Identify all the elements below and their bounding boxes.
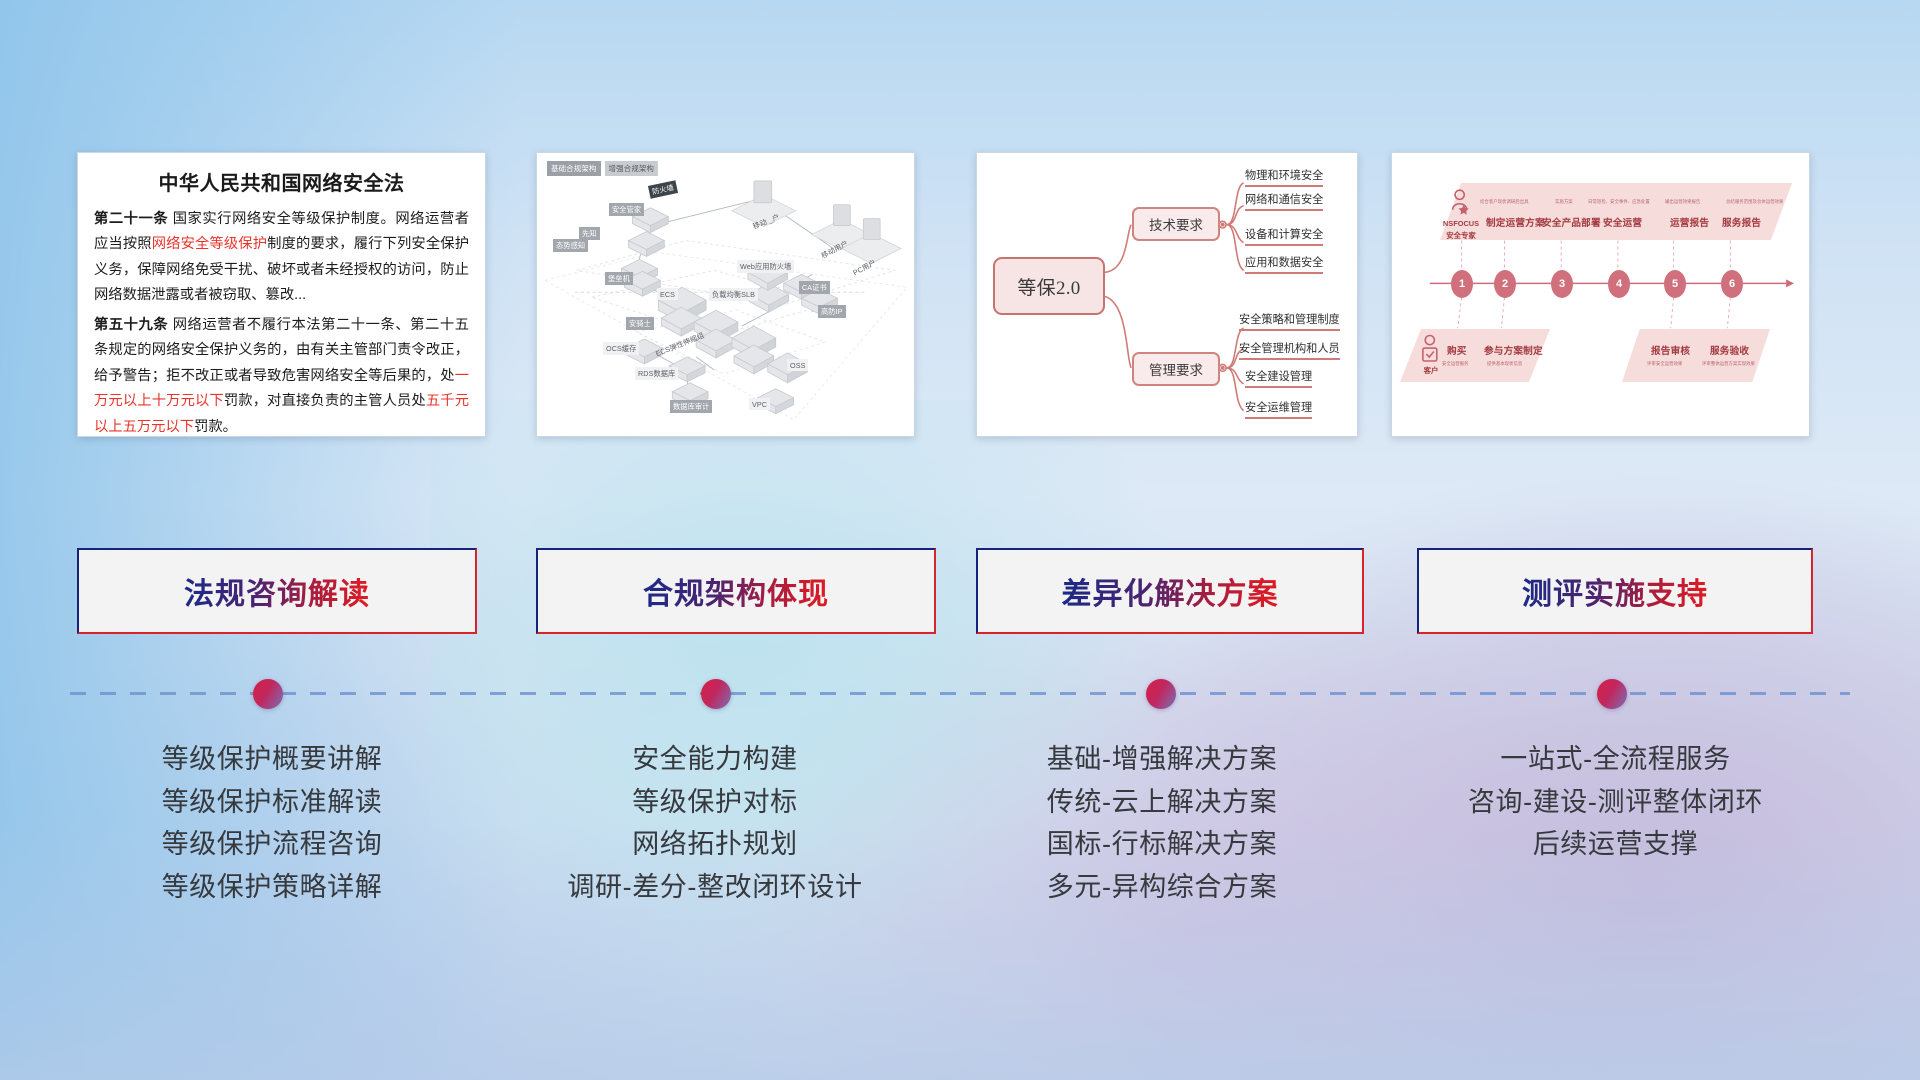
node-label-waf: Web应用防火墙 (737, 260, 794, 273)
process-role-provider-line2: 安全专家 (1432, 230, 1490, 241)
bullet-item: 等级保护对标 (505, 781, 925, 824)
process-step-2[interactable]: 2 (1494, 270, 1516, 298)
bullet-item: 等级保护流程咨询 (62, 823, 482, 866)
bullet-item: 后续运营支撑 (1398, 823, 1833, 866)
node-label-ca-certificate: CA证书 (799, 281, 830, 294)
node-label-security-butler: 安全管家 (609, 203, 644, 216)
mindmap-canvas: 等保2.0 技术要求 管理要求 物理和环境安全 网络和通信安全 设备和计算安全 … (977, 153, 1357, 436)
law-article-59-text-2: 罚款，对直接负责的主管人员处 (224, 393, 426, 409)
process-top-title-2: 安全产品部署 (1542, 215, 1601, 229)
card-law-text[interactable]: 中华人民共和国网络安全法 第二十一条 国家实行网络安全等级保护制度。网络运营者应… (77, 152, 486, 437)
node-label-anti-ddos-ip: 高防IP (818, 305, 846, 318)
card-service-process[interactable]: NSFOCUS 安全专家 客户 结合客户现状调研后出具 制定运营方案 实施方案 … (1391, 152, 1810, 437)
process-top-sub-5: 总结服务范围及总体运营效果 (1726, 199, 1783, 205)
bullet-item: 传统-云上解决方案 (952, 781, 1372, 824)
process-top-sub-4: 输出运营效果报告 (1665, 199, 1700, 205)
process-bottom-title-3: 报告审核 (1651, 343, 1690, 357)
node-label-rds-database: RDS数据库 (635, 367, 678, 380)
bullet-item: 一站式-全流程服务 (1398, 738, 1833, 781)
node-label-database-audit: 数据库审计 (670, 400, 712, 413)
process-bottom-sub-2: 提供基本现状信息 (1487, 361, 1522, 367)
mindmap-leaf-org-personnel: 安全管理机构和人员 (1239, 340, 1340, 360)
timeline-dot-3[interactable] (1146, 679, 1176, 709)
bullet-column-1: 等级保护概要讲解 等级保护标准解读 等级保护流程咨询 等级保护策略详解 (62, 738, 482, 909)
bullet-item: 等级保护标准解读 (62, 781, 482, 824)
mindmap-leaf-device-compute: 设备和计算安全 (1245, 226, 1323, 246)
node-label-slb: 负载均衡SLB (709, 288, 758, 301)
node-label-ocs-cache: OCS缓存 (603, 342, 639, 355)
bullet-column-2: 安全能力构建 等级保护对标 网络拓扑规划 调研-差分-整改闭环设计 (505, 738, 925, 909)
process-step-3[interactable]: 3 (1551, 270, 1573, 298)
node-label-situation-awareness: 态势感知 (553, 239, 588, 252)
mindmap-leaf-network-comm: 网络和通信安全 (1245, 191, 1323, 211)
law-article-21-label: 第二十一条 (94, 211, 168, 227)
law-article-21: 第二十一条 国家实行网络安全等级保护制度。网络运营者应当按照网络安全等级保护制度… (94, 207, 469, 309)
process-bottom-title-4: 服务验收 (1710, 343, 1749, 357)
bullet-item: 国标-行标解决方案 (952, 823, 1372, 866)
timeline-dot-2[interactable] (701, 679, 731, 709)
timeline-dashed-line (70, 692, 1850, 695)
mindmap-leaf-policy-system: 安全策略和管理制度 (1239, 311, 1340, 331)
process-bottom-sub-3: 评审安全运营效果 (1647, 361, 1682, 367)
bullet-column-4: 一站式-全流程服务 咨询-建设-测评整体闭环 后续运营支撑 (1398, 738, 1833, 866)
law-title: 中华人民共和国网络安全法 (78, 167, 485, 196)
timeline-dot-1[interactable] (253, 679, 283, 709)
headline-box-regulation-consulting[interactable]: 法规咨询解读 (77, 548, 477, 634)
law-article-59: 第五十九条 网络运营者不履行本法第二十一条、第二十五条规定的网络安全保护义务的，… (94, 313, 469, 437)
mindmap-branch-management[interactable]: 管理要求 (1132, 352, 1220, 386)
process-canvas: NSFOCUS 安全专家 客户 结合客户现状调研后出具 制定运营方案 实施方案 … (1392, 153, 1809, 436)
process-top-title-3: 安全运营 (1603, 215, 1642, 229)
process-bottom-sub-4: 评审整体运营方案实现效果 (1702, 361, 1755, 367)
bullet-item: 基础-增强解决方案 (952, 738, 1372, 781)
mindmap-root-node[interactable]: 等保2.0 (993, 257, 1105, 315)
process-step-1[interactable]: 1 (1451, 270, 1473, 298)
process-top-sub-2: 实施方案 (1555, 199, 1573, 205)
card-architecture-diagram[interactable]: 基础合规架构 增强合规架构 (536, 152, 915, 437)
mindmap-leaf-physical-env: 物理和环境安全 (1245, 167, 1323, 187)
process-step-6[interactable]: 6 (1721, 270, 1743, 298)
headline-box-differentiated-solution[interactable]: 差异化解决方案 (976, 548, 1364, 634)
node-label-oss: OSS (787, 359, 808, 371)
headline-label-2: 合规架构体现 (643, 569, 829, 613)
headline-label-4: 测评实施支持 (1522, 569, 1708, 613)
bullet-item: 安全能力构建 (505, 738, 925, 781)
mindmap-leaf-operations: 安全运维管理 (1245, 399, 1312, 419)
law-article-59-text-3: 罚款。 (194, 419, 237, 435)
bullet-item: 咨询-建设-测评整体闭环 (1398, 781, 1833, 824)
bullet-item: 调研-差分-整改闭环设计 (505, 866, 925, 909)
process-step-4[interactable]: 4 (1608, 270, 1630, 298)
process-top-sub-1: 结合客户现状调研后出具 (1480, 199, 1529, 205)
law-body: 第二十一条 国家实行网络安全等级保护制度。网络运营者应当按照网络安全等级保护制度… (78, 196, 485, 437)
process-bottom-title-1: 购买 (1447, 343, 1467, 357)
bullet-item: 网络拓扑规划 (505, 823, 925, 866)
node-label-jumpserver: 堡垒机 (605, 272, 633, 285)
mindmap-leaf-construction: 安全建设管理 (1245, 368, 1312, 388)
mindmap-leaf-app-data: 应用和数据安全 (1245, 254, 1323, 274)
headline-label-1: 法规咨询解读 (184, 569, 370, 613)
node-label-security-knight: 安骑士 (626, 317, 654, 330)
node-label-vpc: VPC (749, 398, 770, 410)
bullet-column-3: 基础-增强解决方案 传统-云上解决方案 国标-行标解决方案 多元-异构综合方案 (952, 738, 1372, 909)
process-step-5[interactable]: 5 (1664, 270, 1686, 298)
timeline-dot-4[interactable] (1597, 679, 1627, 709)
law-article-21-highlight: 网络安全等级保护 (152, 236, 267, 252)
headline-box-compliance-architecture[interactable]: 合规架构体现 (536, 548, 936, 634)
headline-label-3: 差异化解决方案 (1062, 569, 1279, 613)
card-mindmap[interactable]: 等保2.0 技术要求 管理要求 物理和环境安全 网络和通信安全 设备和计算安全 … (976, 152, 1358, 437)
process-top-sub-3: 日常巡检、安全事件、应急处置 (1588, 199, 1650, 205)
slide-stage: 中华人民共和国网络安全法 第二十一条 国家实行网络安全等级保护制度。网络运营者应… (0, 0, 1920, 1080)
process-top-title-4: 运营报告 (1670, 215, 1709, 229)
process-top-title-1: 制定运营方案 (1486, 215, 1545, 229)
mindmap-branch-technical[interactable]: 技术要求 (1132, 207, 1220, 241)
process-top-title-5: 服务报告 (1722, 215, 1761, 229)
architecture-canvas: 基础合规架构 增强合规架构 (537, 153, 914, 436)
process-role-provider-line1: NSFOCUS (1432, 219, 1490, 228)
law-article-59-label: 第五十九条 (94, 317, 168, 333)
process-bottom-sub-1: 安全运营服务 (1442, 361, 1468, 367)
bullet-item: 等级保护策略详解 (62, 866, 482, 909)
headline-box-assessment-support[interactable]: 测评实施支持 (1417, 548, 1813, 634)
bullet-item: 多元-异构综合方案 (952, 866, 1372, 909)
node-label-ecs: ECS (657, 288, 678, 300)
bullet-item: 等级保护概要讲解 (62, 738, 482, 781)
process-bottom-title-2: 参与方案制定 (1484, 343, 1543, 357)
